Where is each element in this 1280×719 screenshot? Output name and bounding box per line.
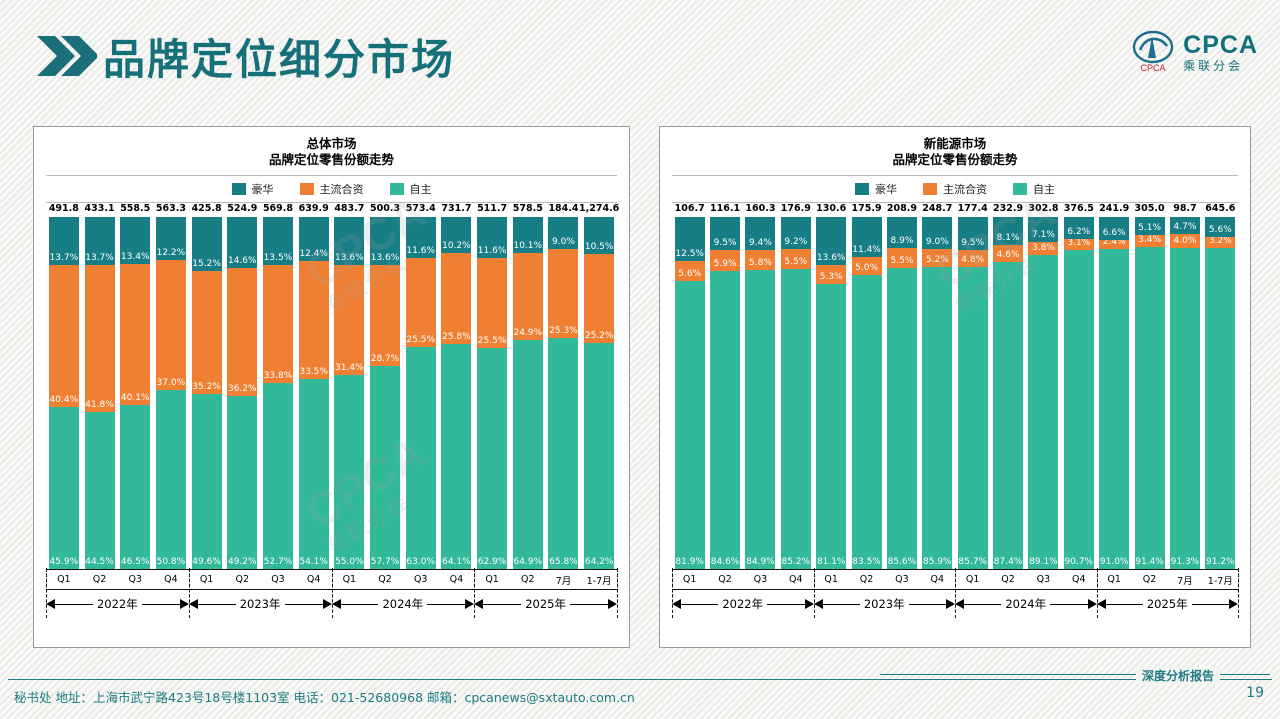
segment-value-label: 45.9% (50, 557, 79, 569)
bar-segment-joint-venture[interactable]: 3.1% (1064, 239, 1094, 250)
bar-segment-luxury[interactable]: 8.9% (887, 217, 917, 248)
bar-segment-domestic[interactable]: 57.7% (370, 366, 400, 569)
bar-total-label: 106.7 (675, 203, 705, 214)
bar-column: 1,274.610.5%25.2%64.2% (581, 203, 617, 569)
bar-segment-domestic[interactable]: 45.9% (49, 407, 79, 569)
svg-text:CPCA: CPCA (1141, 63, 1166, 73)
year-arrow-right-icon (465, 599, 474, 609)
bar-segment-joint-venture[interactable]: 35.2% (192, 271, 222, 395)
stacked-bar[interactable]: 9.0%25.3%65.8% (548, 217, 578, 569)
bar-segment-domestic[interactable]: 49.6% (192, 394, 222, 569)
segment-value-label: 7.1% (1032, 230, 1055, 242)
x-axis-nev: Q1Q2Q3Q4Q1Q2Q3Q4Q1Q2Q3Q4Q1Q27月1-7月 2022年… (672, 569, 1238, 618)
stacked-bar[interactable]: 5.6%3.2%91.2% (1205, 217, 1235, 569)
slide-canvas: 品牌定位细分市场 CPCA CPCA 乘联分会 总体市场 品牌定位零售份额走势 (0, 0, 1280, 719)
bar-column: 578.510.1%24.9%64.9% (510, 203, 546, 569)
stacked-bar[interactable]: 10.5%25.2%64.2% (584, 217, 614, 569)
year-arrow-right-icon (946, 599, 955, 609)
segment-value-label: 4.8% (961, 255, 984, 267)
bar-segment-domestic[interactable]: 85.2% (781, 269, 811, 569)
chart-legend-overall: 豪华 主流合资 自主 (34, 176, 629, 202)
bar-segment-domestic[interactable]: 84.6% (710, 271, 740, 569)
bar-columns-nev: 106.712.5%5.6%81.9%116.19.5%5.9%84.6%160… (672, 203, 1238, 569)
segment-value-label: 5.5% (784, 257, 807, 269)
bar-segment-luxury[interactable]: 12.5% (675, 217, 705, 261)
stacked-bar[interactable]: 11.6%25.5%63.0% (406, 217, 436, 569)
bar-segment-domestic[interactable]: 63.0% (406, 347, 436, 569)
bar-segment-joint-venture[interactable]: 3.4% (1135, 235, 1165, 247)
bar-segment-luxury[interactable]: 9.5% (710, 217, 740, 250)
segment-value-label: 13.4% (121, 252, 150, 264)
bar-total-label: 573.4 (406, 203, 436, 214)
segment-value-label: 35.2% (192, 382, 221, 394)
bar-column: 248.79.0%5.2%85.9% (920, 203, 955, 569)
chart-panel-overall: 总体市场 品牌定位零售份额走势 豪华 主流合资 自主 491.813.7%40.… (33, 126, 630, 648)
bar-segment-domestic[interactable]: 81.9% (675, 281, 705, 569)
bar-total-label: 1,274.6 (579, 203, 619, 214)
bar-segment-domestic[interactable]: 64.9% (513, 340, 543, 568)
logo-subtitle: 乘联分会 (1183, 60, 1258, 72)
segment-value-label: 12.2% (157, 248, 186, 260)
bar-segment-joint-venture[interactable]: 4.0% (1170, 234, 1200, 248)
cpca-logo-icon: CPCA (1130, 30, 1176, 74)
bar-segment-luxury[interactable]: 5.6% (1205, 217, 1235, 237)
bar-segment-domestic[interactable]: 64.2% (584, 343, 614, 569)
bar-segment-joint-venture[interactable]: 5.5% (781, 249, 811, 268)
bar-column: 106.712.5%5.6%81.9% (672, 203, 707, 569)
bar-segment-luxury[interactable]: 12.4% (299, 217, 329, 261)
page-title: 品牌定位细分市场 (103, 26, 455, 87)
bar-column: 500.313.6%28.7%57.7% (367, 203, 403, 569)
bar-column: 130.613.6%5.3%81.1% (814, 203, 849, 569)
bar-segment-domestic[interactable]: 85.6% (887, 268, 917, 569)
bar-segment-joint-venture[interactable]: 33.5% (299, 261, 329, 379)
bar-segment-luxury[interactable]: 4.7% (1170, 217, 1200, 234)
stacked-bar[interactable]: 15.2%35.2%49.6% (192, 217, 222, 569)
bar-segment-luxury[interactable]: 13.4% (120, 217, 150, 264)
axis-year-row-nev: 2022年2023年2024年2025年 (672, 590, 1238, 618)
segment-value-label: 14.6% (228, 256, 257, 268)
bar-segment-joint-venture[interactable]: 5.6% (675, 261, 705, 281)
stacked-bar[interactable]: 12.5%5.6%81.9% (675, 217, 705, 569)
bar-total-label: 98.7 (1173, 203, 1196, 214)
stacked-bar[interactable]: 6.6%2.4%91.0% (1099, 217, 1129, 569)
axis-period-label: Q4 (439, 574, 475, 585)
year-arrow-left-icon (332, 599, 341, 609)
segment-value-label: 87.4% (994, 557, 1023, 569)
segment-value-label: 5.8% (749, 258, 772, 270)
axis-period-label: Q1 (332, 574, 368, 585)
axis-year-group: 2024年 (955, 590, 1097, 618)
bar-segment-luxury[interactable]: 11.6% (406, 217, 436, 258)
bar-segment-luxury[interactable]: 6.6% (1099, 217, 1129, 240)
bar-column: 376.56.2%3.1%90.7% (1061, 203, 1096, 569)
segment-value-label: 13.7% (50, 253, 79, 265)
bar-segment-luxury[interactable]: 11.4% (852, 217, 882, 257)
year-arrow-left-icon (189, 599, 198, 609)
bar-segment-joint-venture[interactable]: 5.5% (887, 248, 917, 267)
bar-segment-joint-venture[interactable]: 4.8% (958, 250, 988, 267)
stacked-bar[interactable]: 9.2%5.5%85.2% (781, 217, 811, 569)
bar-segment-domestic[interactable]: 83.5% (852, 275, 882, 569)
axis-period-label: 1-7月 (1203, 573, 1238, 587)
bar-segment-domestic[interactable]: 91.0% (1099, 249, 1129, 569)
year-arrow-right-icon (608, 599, 617, 609)
segment-value-label: 64.1% (442, 557, 471, 569)
segment-value-label: 13.6% (335, 253, 364, 265)
stacked-bar[interactable]: 13.4%40.1%46.5% (120, 217, 150, 569)
segment-value-label: 3.4% (1138, 235, 1161, 247)
bar-column: 177.49.5%4.8%85.7% (955, 203, 990, 569)
bar-column: 511.711.6%25.5%62.9% (474, 203, 510, 569)
axis-year-label: 2022年 (718, 596, 767, 612)
bar-segment-joint-venture[interactable]: 5.3% (816, 265, 846, 284)
bar-total-label: 302.8 (1028, 203, 1058, 214)
axis-year-label: 2022年 (93, 596, 142, 612)
bar-total-label: 500.3 (370, 203, 400, 214)
year-arrow-left-icon (672, 599, 681, 609)
bar-segment-joint-venture[interactable]: 41.8% (85, 265, 115, 412)
bar-segment-luxury[interactable]: 8.1% (993, 217, 1023, 245)
stacked-bar[interactable]: 13.5%33.8%52.7% (263, 217, 293, 569)
legend-label-joint-venture: 主流合资 (320, 181, 364, 197)
bar-segment-joint-venture[interactable]: 40.1% (120, 264, 150, 405)
chart-title-line1-nev: 新能源市场 (660, 136, 1250, 152)
bar-segment-joint-venture[interactable]: 5.0% (852, 257, 882, 275)
segment-value-label: 5.3% (820, 272, 843, 284)
bar-column: 175.911.4%5.0%83.5% (849, 203, 884, 569)
bar-segment-domestic[interactable]: 84.9% (745, 270, 775, 569)
year-group-divider (617, 568, 618, 618)
stacked-bar[interactable]: 12.4%33.5%54.1% (299, 217, 329, 569)
segment-value-label: 81.9% (675, 557, 704, 569)
bar-segment-joint-venture[interactable]: 5.2% (922, 249, 952, 267)
stacked-bar[interactable]: 9.5%4.8%85.7% (958, 217, 988, 569)
chart-panel-nev: 新能源市场 品牌定位零售份额走势 豪华 主流合资 自主 106.712.5%5.… (659, 126, 1251, 648)
bar-segment-joint-venture[interactable]: 37.0% (156, 260, 186, 390)
axis-year-group: 2022年 (46, 590, 189, 618)
segment-value-label: 90.7% (1065, 557, 1094, 569)
stacked-bar[interactable]: 12.2%37.0%50.8% (156, 217, 186, 569)
bar-column: 116.19.5%5.9%84.6% (707, 203, 742, 569)
bar-segment-luxury[interactable]: 9.2% (781, 217, 811, 249)
stacked-bar[interactable]: 10.2%25.8%64.1% (441, 217, 471, 569)
stacked-bar[interactable]: 13.6%28.7%57.7% (370, 217, 400, 569)
segment-value-label: 2.4% (1103, 240, 1126, 248)
axis-period-label: 1-7月 (581, 573, 617, 587)
legend-swatch-domestic-nev (1013, 183, 1027, 195)
bar-segment-luxury[interactable]: 9.0% (548, 217, 578, 249)
bar-segment-joint-venture[interactable]: 40.4% (49, 265, 79, 407)
stacked-bar[interactable]: 8.1%4.6%87.4% (993, 217, 1023, 569)
bar-total-label: 305.0 (1135, 203, 1165, 214)
segment-value-label: 11.6% (478, 246, 507, 258)
bar-segment-domestic[interactable]: 55.0% (334, 375, 364, 569)
stacked-bar[interactable]: 7.1%3.8%89.1% (1028, 217, 1058, 569)
axis-period-label: Q4 (920, 574, 955, 585)
stacked-bar[interactable]: 9.0%5.2%85.9% (922, 217, 952, 569)
segment-value-label: 4.7% (1174, 222, 1197, 234)
year-arrow-left-icon (814, 599, 823, 609)
bar-column: 569.813.5%33.8%52.7% (260, 203, 296, 569)
legend-item-luxury[interactable]: 豪华 (232, 181, 274, 197)
bar-segment-luxury[interactable]: 13.5% (263, 217, 293, 265)
segment-value-label: 81.1% (817, 557, 846, 569)
segment-value-label: 46.5% (121, 557, 150, 569)
bar-segment-luxury[interactable]: 6.2% (1064, 217, 1094, 239)
bar-total-label: 241.9 (1099, 203, 1129, 214)
bar-segment-luxury[interactable]: 10.5% (584, 217, 614, 254)
bar-segment-luxury[interactable]: 11.6% (477, 217, 507, 258)
bar-column: 639.912.4%33.5%54.1% (296, 203, 332, 569)
bar-total-label: 563.3 (156, 203, 186, 214)
bar-total-label: 425.8 (192, 203, 222, 214)
segment-value-label: 44.5% (85, 557, 114, 569)
bar-segment-domestic[interactable]: 62.9% (477, 348, 507, 569)
bar-segment-joint-venture[interactable]: 25.8% (441, 253, 471, 344)
bar-segment-joint-venture[interactable]: 31.4% (334, 265, 364, 376)
bar-segment-domestic[interactable]: 52.7% (263, 383, 293, 569)
segment-value-label: 63.0% (406, 557, 435, 569)
segment-value-label: 62.9% (478, 557, 507, 569)
bar-segment-joint-venture[interactable]: 36.2% (227, 268, 257, 395)
bar-segment-domestic[interactable]: 64.1% (441, 344, 471, 569)
bar-segment-joint-venture[interactable]: 25.5% (406, 258, 436, 348)
segment-value-label: 13.5% (264, 253, 293, 265)
segment-value-label: 54.1% (299, 557, 328, 569)
year-arrow-left-icon (955, 599, 964, 609)
axis-period-label: Q1 (189, 574, 225, 585)
bar-total-label: 483.7 (334, 203, 364, 214)
legend-item-domestic[interactable]: 自主 (390, 181, 432, 197)
bar-segment-luxury[interactable]: 9.5% (958, 217, 988, 250)
axis-period-label: Q2 (707, 574, 742, 585)
axis-period-label: Q3 (1026, 574, 1061, 585)
page-number: 19 (1246, 685, 1264, 701)
legend-item-luxury-nev[interactable]: 豪华 (855, 181, 897, 197)
bar-segment-domestic[interactable]: 81.1% (816, 284, 846, 569)
legend-label-luxury-nev: 豪华 (875, 181, 897, 197)
legend-item-joint-venture-nev[interactable]: 主流合资 (923, 181, 987, 197)
segment-value-label: 13.6% (371, 253, 400, 265)
chart-title-nev: 新能源市场 品牌定位零售份额走势 (660, 127, 1250, 168)
bar-column: 573.411.6%25.5%63.0% (403, 203, 439, 569)
stacked-bar[interactable]: 10.1%24.9%64.9% (513, 217, 543, 569)
segment-value-label: 5.2% (926, 255, 949, 267)
bar-segment-domestic[interactable]: 89.1% (1028, 255, 1058, 569)
segment-value-label: 5.9% (714, 259, 737, 271)
bar-segment-luxury[interactable]: 12.2% (156, 217, 186, 260)
stacked-bar[interactable]: 11.4%5.0%83.5% (852, 217, 882, 569)
bar-segment-joint-venture[interactable]: 5.9% (710, 250, 740, 271)
stacked-bar[interactable]: 8.9%5.5%85.6% (887, 217, 917, 569)
stacked-bar[interactable]: 13.7%41.8%44.5% (85, 217, 115, 569)
bar-segment-domestic[interactable]: 44.5% (85, 412, 115, 569)
segment-value-label: 24.9% (513, 328, 542, 340)
segment-value-label: 9.5% (714, 238, 737, 250)
bar-total-label: 208.9 (887, 203, 917, 214)
axis-period-label: Q1 (814, 574, 849, 585)
bar-segment-luxury[interactable]: 13.6% (334, 217, 364, 265)
segment-value-label: 91.3% (1171, 557, 1200, 569)
segment-value-label: 36.2% (228, 384, 257, 396)
segment-value-label: 40.4% (50, 395, 79, 407)
stacked-bar[interactable]: 9.4%5.8%84.9% (745, 217, 775, 569)
segment-value-label: 9.4% (749, 238, 772, 250)
segment-value-label: 89.1% (1029, 557, 1058, 569)
bar-segment-joint-venture[interactable]: 28.7% (370, 265, 400, 366)
axis-period-label: Q2 (990, 574, 1025, 585)
bar-segment-luxury[interactable]: 5.1% (1135, 217, 1165, 235)
year-group-divider (189, 568, 190, 618)
bar-column: 483.713.6%31.4%55.0% (332, 203, 368, 569)
bar-segment-domestic[interactable]: 54.1% (299, 379, 329, 569)
bar-segment-luxury[interactable]: 13.7% (85, 217, 115, 265)
bar-segment-luxury[interactable]: 7.1% (1028, 217, 1058, 242)
legend-label-luxury: 豪华 (252, 181, 274, 197)
year-group-divider (1097, 568, 1098, 618)
legend-swatch-luxury (232, 183, 246, 195)
axis-year-label: 2025年 (521, 596, 570, 612)
bar-segment-joint-venture[interactable]: 25.2% (584, 254, 614, 343)
axis-period-label: Q2 (367, 574, 403, 585)
bar-total-label: 232.9 (993, 203, 1023, 214)
bar-column: 563.312.2%37.0%50.8% (153, 203, 189, 569)
stacked-bar[interactable]: 6.2%3.1%90.7% (1064, 217, 1094, 569)
axis-period-label: Q3 (743, 574, 778, 585)
segment-value-label: 12.5% (675, 249, 704, 261)
segment-value-label: 3.8% (1032, 243, 1055, 255)
axis-year-label: 2023年 (236, 596, 285, 612)
legend-item-domestic-nev[interactable]: 自主 (1013, 181, 1055, 197)
bar-segment-domestic[interactable]: 91.3% (1170, 248, 1200, 569)
bar-segment-joint-venture[interactable]: 2.4% (1099, 240, 1129, 248)
stacked-bar[interactable]: 9.5%5.9%84.6% (710, 217, 740, 569)
stacked-bar[interactable]: 13.6%5.3%81.1% (816, 217, 846, 569)
bar-total-label: 116.1 (710, 203, 740, 214)
bar-segment-domestic[interactable]: 87.4% (993, 262, 1023, 569)
year-group-divider (1238, 568, 1239, 618)
bar-segment-joint-venture[interactable]: 25.5% (477, 258, 507, 348)
segment-value-label: 4.6% (997, 250, 1020, 262)
bar-segment-luxury[interactable]: 10.2% (441, 217, 471, 253)
stacked-bar[interactable]: 13.7%40.4%45.9% (49, 217, 79, 569)
segment-value-label: 84.6% (711, 557, 740, 569)
year-arrow-right-icon (1088, 599, 1097, 609)
bar-segment-domestic[interactable]: 91.4% (1135, 247, 1165, 569)
segment-value-label: 3.2% (1209, 237, 1232, 248)
segment-value-label: 10.5% (585, 242, 614, 254)
year-arrow-right-icon (1229, 599, 1238, 609)
stacked-bar[interactable]: 11.6%25.5%62.9% (477, 217, 507, 569)
bar-column: 176.99.2%5.5%85.2% (778, 203, 813, 569)
segment-value-label: 11.6% (406, 246, 435, 258)
year-group-divider (814, 568, 815, 618)
bar-total-label: 645.6 (1205, 203, 1235, 214)
bar-column: 645.65.6%3.2%91.2% (1203, 203, 1238, 569)
bar-total-label: 731.7 (441, 203, 471, 214)
axis-period-label: Q3 (117, 574, 153, 585)
bar-column: 241.96.6%2.4%91.0% (1097, 203, 1132, 569)
segment-value-label: 25.2% (585, 331, 614, 343)
bar-segment-domestic[interactable]: 50.8% (156, 390, 186, 569)
axis-period-label: Q3 (884, 574, 919, 585)
bar-column: 305.05.1%3.4%91.4% (1132, 203, 1167, 569)
bar-segment-joint-venture[interactable]: 3.8% (1028, 242, 1058, 255)
axis-period-label: Q4 (1061, 574, 1096, 585)
x-axis-overall: Q1Q2Q3Q4Q1Q2Q3Q4Q1Q2Q3Q4Q1Q27月1-7月 2022年… (46, 569, 617, 618)
segment-value-label: 85.9% (923, 557, 952, 569)
axis-year-label: 2024年 (1001, 596, 1050, 612)
segment-value-label: 37.0% (157, 378, 186, 390)
bar-segment-domestic[interactable]: 85.9% (922, 267, 952, 569)
axis-year-group: 2023年 (189, 590, 332, 618)
bar-column: 184.49.0%25.3%65.8% (546, 203, 582, 569)
legend-label-domestic: 自主 (410, 181, 432, 197)
plot-area-nev: 106.712.5%5.6%81.9%116.19.5%5.9%84.6%160… (672, 202, 1238, 569)
bar-column: 491.813.7%40.4%45.9% (46, 203, 82, 569)
bar-segment-domestic[interactable]: 65.8% (548, 338, 578, 569)
axis-period-label: Q4 (778, 574, 813, 585)
bar-segment-joint-venture[interactable]: 4.6% (993, 245, 1023, 261)
axis-period-label: Q3 (260, 574, 296, 585)
segment-value-label: 8.1% (997, 233, 1020, 245)
bar-segment-luxury[interactable]: 14.6% (227, 217, 257, 268)
bar-segment-domestic[interactable]: 46.5% (120, 405, 150, 569)
stacked-bar[interactable]: 14.6%36.2%49.2% (227, 217, 257, 569)
bar-total-label: 248.7 (922, 203, 952, 214)
bar-segment-joint-venture[interactable]: 3.2% (1205, 237, 1235, 248)
axis-period-label: Q4 (153, 574, 189, 585)
bar-segment-joint-venture[interactable]: 24.9% (513, 253, 543, 341)
segment-value-label: 28.7% (371, 354, 400, 366)
segment-value-label: 49.2% (228, 557, 257, 569)
segment-value-label: 91.2% (1206, 557, 1235, 569)
bar-segment-domestic[interactable]: 90.7% (1064, 250, 1094, 569)
segment-value-label: 33.5% (299, 367, 328, 379)
bar-column: 232.98.1%4.6%87.4% (990, 203, 1025, 569)
bar-segment-luxury[interactable]: 13.6% (370, 217, 400, 265)
stacked-bar[interactable]: 4.7%4.0%91.3% (1170, 217, 1200, 569)
legend-swatch-luxury-nev (855, 183, 869, 195)
segment-value-label: 9.2% (784, 237, 807, 249)
footer-divider (8, 679, 1272, 680)
bar-segment-luxury[interactable]: 10.1% (513, 217, 543, 253)
legend-item-joint-venture[interactable]: 主流合资 (300, 181, 364, 197)
bar-segment-domestic[interactable]: 85.7% (958, 267, 988, 569)
bar-segment-domestic[interactable]: 91.2% (1205, 248, 1235, 569)
bar-segment-luxury[interactable]: 13.7% (49, 217, 79, 265)
bar-segment-luxury[interactable]: 13.6% (816, 217, 846, 265)
segment-value-label: 13.7% (85, 253, 114, 265)
bar-total-label: 177.4 (958, 203, 988, 214)
bar-segment-joint-venture[interactable]: 33.8% (263, 265, 293, 384)
cpca-logo: CPCA CPCA 乘联分会 (1130, 30, 1258, 74)
segment-value-label: 85.7% (958, 557, 987, 569)
bar-segment-domestic[interactable]: 49.2% (227, 396, 257, 569)
bar-segment-joint-venture[interactable]: 25.3% (548, 249, 578, 338)
bar-segment-luxury[interactable]: 15.2% (192, 217, 222, 271)
axis-period-label: Q1 (474, 574, 510, 585)
footer-contact: 秘书处 地址：上海市武宁路423号18号楼1103室 电话：021-526809… (14, 687, 635, 706)
segment-value-label: 41.8% (85, 400, 114, 412)
bar-segment-luxury[interactable]: 9.0% (922, 217, 952, 249)
bar-segment-joint-venture[interactable]: 5.8% (745, 250, 775, 270)
stacked-bar[interactable]: 13.6%31.4%55.0% (334, 217, 364, 569)
plot-area-overall: 491.813.7%40.4%45.9%433.113.7%41.8%44.5%… (46, 202, 617, 569)
stacked-bar[interactable]: 5.1%3.4%91.4% (1135, 217, 1165, 569)
bar-segment-luxury[interactable]: 9.4% (745, 217, 775, 250)
